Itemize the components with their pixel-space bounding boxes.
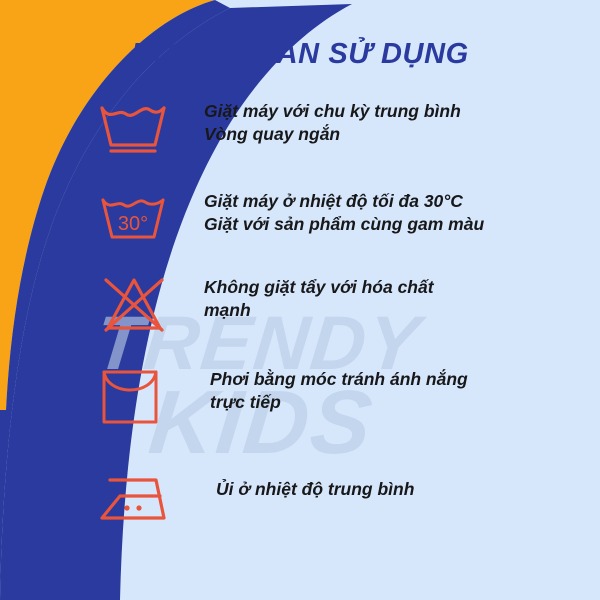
care-row: 30° Giặt máy ở nhiệt độ tối đa 30°C Giặt… xyxy=(0,186,600,272)
care-row-line-2: mạnh xyxy=(204,299,434,322)
care-instructions-card: TRENDY KIDS HƯỚNG DẪN SỬ DỤNG Giặt máy v… xyxy=(0,0,600,600)
no-bleach-triangle-icon xyxy=(98,272,182,338)
care-row-line-2: Vòng quay ngắn xyxy=(204,123,461,146)
iron-two-dots-icon xyxy=(98,468,182,534)
care-row-text: Giặt máy ở nhiệt độ tối đa 30°C Giặt với… xyxy=(204,186,484,236)
care-row: Giặt máy với chu kỳ trung bình Vòng quay… xyxy=(0,96,600,186)
care-row-text: Giặt máy với chu kỳ trung bình Vòng quay… xyxy=(204,96,461,146)
care-row-line-1: Giặt máy với chu kỳ trung bình xyxy=(204,101,461,121)
page-title: HƯỚNG DẪN SỬ DỤNG xyxy=(0,38,600,71)
care-row: Không giặt tẩy với hóa chất mạnh xyxy=(0,272,600,364)
drip-dry-hanger-icon xyxy=(98,364,182,430)
wash-tub-30-degrees-icon: 30° xyxy=(98,186,182,252)
care-row-text: Phơi bằng móc tránh ánh nắng trực tiếp xyxy=(204,364,468,414)
care-row-text: Ủi ở nhiệt độ trung bình xyxy=(204,462,414,501)
care-row: Ủi ở nhiệt độ trung bình xyxy=(0,462,600,542)
wash-tub-gentle-icon xyxy=(98,96,182,162)
care-row-line-1: Không giặt tẩy với hóa chất xyxy=(204,277,434,297)
care-row-line-2: trực tiếp xyxy=(210,391,468,414)
wash-temperature-label: 30° xyxy=(118,213,148,235)
care-row-line-1: Giặt máy ở nhiệt độ tối đa 30°C xyxy=(204,191,463,211)
care-row-line-1: Ủi ở nhiệt độ trung bình xyxy=(216,479,414,499)
care-row-line-2: Giặt với sản phẩm cùng gam màu xyxy=(204,213,484,236)
bottom-divider xyxy=(95,586,600,589)
care-rows-list: Giặt máy với chu kỳ trung bình Vòng quay… xyxy=(0,96,600,542)
care-row-text: Không giặt tẩy với hóa chất mạnh xyxy=(204,272,434,322)
care-row: Phơi bằng móc tránh ánh nắng trực tiếp xyxy=(0,364,600,462)
care-row-line-1: Phơi bằng móc tránh ánh nắng xyxy=(210,369,468,389)
